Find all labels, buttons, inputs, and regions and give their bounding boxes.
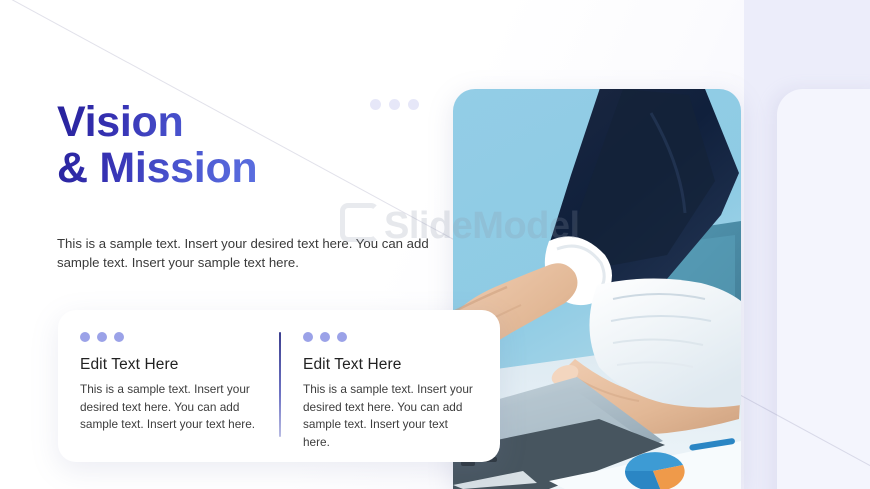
card-heading-left: Edit Text Here bbox=[80, 356, 257, 374]
dot-icon bbox=[97, 332, 107, 342]
decorative-dots-left bbox=[80, 332, 257, 342]
dot-icon bbox=[320, 332, 330, 342]
dot-icon bbox=[337, 332, 347, 342]
card-heading-right: Edit Text Here bbox=[303, 356, 478, 374]
dot-icon bbox=[114, 332, 124, 342]
card-column-divider bbox=[279, 332, 281, 437]
dot-icon bbox=[408, 99, 419, 110]
card-body-right: This is a sample text. Insert your desir… bbox=[303, 381, 478, 452]
content-card-column-right[interactable]: Edit Text Here This is a sample text. In… bbox=[279, 310, 500, 462]
decorative-dots-right bbox=[303, 332, 478, 342]
dot-icon bbox=[389, 99, 400, 110]
card-body-left: This is a sample text. Insert your desir… bbox=[80, 381, 257, 434]
page-title: Vision& Mission bbox=[57, 100, 257, 191]
presentation-slide: Vision& Mission This is a sample text. I… bbox=[0, 0, 870, 489]
decorative-dots-faint bbox=[370, 99, 419, 110]
dot-icon bbox=[370, 99, 381, 110]
dot-icon bbox=[303, 332, 313, 342]
title-line-1: Vision bbox=[57, 98, 183, 146]
content-card: Edit Text Here This is a sample text. In… bbox=[58, 310, 500, 462]
title-line-2: & Mission bbox=[57, 144, 257, 192]
background-panel-near bbox=[777, 89, 870, 489]
intro-paragraph: This is a sample text. Insert your desir… bbox=[57, 234, 432, 272]
dot-icon bbox=[80, 332, 90, 342]
content-card-column-left[interactable]: Edit Text Here This is a sample text. In… bbox=[58, 310, 279, 462]
